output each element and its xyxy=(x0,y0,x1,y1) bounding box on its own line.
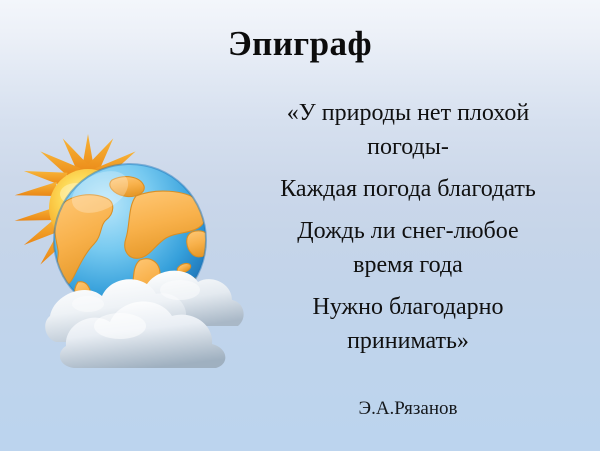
poem-line: Нужно благодарно xyxy=(236,290,580,324)
author-attribution: Э.А.Рязанов xyxy=(236,398,580,420)
poem-stanza: Дождь ли снег-любое время года xyxy=(236,214,580,282)
poem-line: погоды- xyxy=(236,130,580,164)
epigraph-text: «У природы нет плохой погоды- Каждая пог… xyxy=(236,96,580,358)
poem-line: время года xyxy=(236,248,580,282)
poem-stanza: «У природы нет плохой погоды- xyxy=(236,96,580,164)
slide-canvas: Эпиграф «У природы нет плохой погоды- Ка… xyxy=(0,0,600,451)
poem-line: «У природы нет плохой xyxy=(236,96,580,130)
page-title: Эпиграф xyxy=(0,26,600,63)
poem-line: принимать» xyxy=(236,324,580,358)
poem-line: Дождь ли снег-любое xyxy=(236,214,580,248)
weather-illustration-svg xyxy=(16,140,256,380)
poem-stanza: Нужно благодарно принимать» xyxy=(236,290,580,358)
poem-stanza: Каждая погода благодать xyxy=(236,172,580,206)
weather-illustration xyxy=(16,140,256,380)
poem-line: Каждая погода благодать xyxy=(236,172,580,206)
